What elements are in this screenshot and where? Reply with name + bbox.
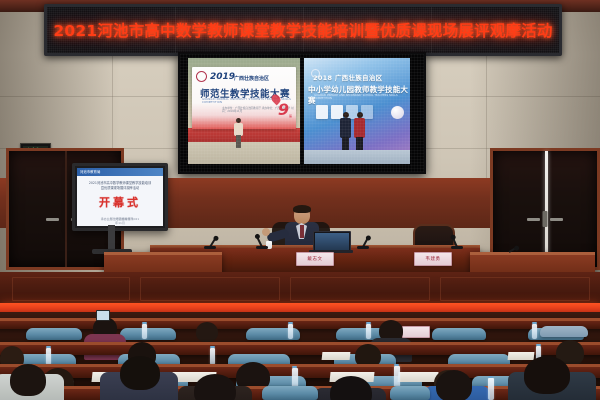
emblem-icon bbox=[196, 71, 207, 82]
slide-right-ground bbox=[304, 150, 410, 164]
water-bottle bbox=[366, 324, 371, 339]
attendee-head bbox=[196, 322, 218, 342]
seat bbox=[120, 328, 176, 340]
table-card bbox=[402, 326, 430, 338]
tv-main-title: 开幕式 bbox=[77, 194, 163, 210]
nameplate-right-text: 韦建勇 bbox=[415, 253, 451, 265]
slide-left-ground bbox=[188, 142, 300, 164]
slide-left-number: 9 bbox=[278, 100, 289, 119]
conference-hall-photo: 2021河池市高中数学教师课堂教学技能培训暨优质课现场展评观摩活动 2019 广… bbox=[0, 0, 600, 400]
seat bbox=[26, 328, 82, 340]
door-lock-icon[interactable] bbox=[543, 211, 548, 227]
water-bottle bbox=[532, 324, 537, 339]
led-banner-text: 2021河池市高中数学教师课堂教学技能培训暨优质课现场展评观摩活动 bbox=[47, 19, 559, 41]
tv-header-text: 河池市教育局 bbox=[80, 169, 100, 174]
seat bbox=[390, 386, 430, 400]
projection-screen: 2019 广西壮族自治区 师范生教学技能大赛 GUANGXI NORMAL UN… bbox=[178, 52, 426, 174]
nameplate-left-text: 戴志文 bbox=[297, 253, 333, 265]
microphone-base bbox=[451, 246, 463, 249]
water-bottle bbox=[46, 348, 51, 365]
tv-monitor: 河池市教育局 2021河池市高中数学教师课堂教学技能培训 暨优质课现场展评观摩活… bbox=[72, 163, 168, 231]
document-paper bbox=[397, 372, 438, 382]
attendee-head bbox=[194, 374, 236, 400]
door-handle-icon[interactable] bbox=[46, 218, 59, 221]
attendee-head bbox=[120, 356, 160, 390]
water-bottle bbox=[292, 368, 298, 388]
slide-left-person bbox=[234, 118, 243, 148]
water-bottle bbox=[210, 348, 215, 365]
tv-slide: 河池市教育局 2021河池市高中数学教师课堂教学技能培训 暨优质课现场展评观摩活… bbox=[77, 168, 163, 226]
slide-left-region: 广西壮族自治区 bbox=[234, 75, 269, 82]
smartphone bbox=[96, 310, 110, 321]
tv-footer-2: 承办：河池市高级中学 2021年11月 bbox=[99, 217, 140, 225]
slide-right: 2018 广西壮族自治区 中小学幼儿园教师教学技能大赛 GUANGXI PRIM… bbox=[304, 58, 410, 164]
led-banner: 2021河池市高中数学教师课堂教学技能培训暨优质课现场展评观摩活动 bbox=[44, 4, 562, 56]
slide-right-subtitle: GUANGXI PRIMARY AND SECONDARY SCHOOL TEA… bbox=[314, 94, 410, 100]
door-handle-icon[interactable] bbox=[550, 218, 563, 221]
seat bbox=[262, 386, 318, 400]
speaker-hand bbox=[262, 228, 270, 236]
slide-right-card bbox=[316, 105, 328, 119]
door-handle-icon[interactable] bbox=[527, 218, 540, 221]
attendee-head bbox=[10, 364, 46, 396]
microphone-base bbox=[256, 246, 268, 249]
audience-area bbox=[0, 312, 600, 400]
nameplate-left: 戴志文 bbox=[296, 252, 334, 266]
water-bottle bbox=[488, 378, 494, 400]
slide-left-number-sub: 届 bbox=[289, 114, 292, 118]
seat bbox=[432, 328, 486, 340]
slide-left-backdrop-board: 2019 广西壮族自治区 师范生教学技能大赛 GUANGXI NORMAL UN… bbox=[192, 67, 296, 129]
water-bottle bbox=[288, 324, 293, 339]
slide-left-year: 2019 bbox=[210, 72, 235, 82]
document-paper bbox=[508, 352, 535, 360]
nameplate-right: 韦建勇 bbox=[414, 252, 452, 266]
tv-slide-header: 河池市教育局 bbox=[77, 168, 163, 176]
trophy-icon bbox=[391, 106, 404, 119]
slide-left: 2019 广西壮族自治区 师范生教学技能大赛 GUANGXI NORMAL UN… bbox=[188, 58, 300, 164]
desk-row bbox=[0, 318, 600, 329]
microphone-base bbox=[204, 246, 216, 249]
attendee-head bbox=[436, 370, 472, 400]
seat bbox=[540, 326, 588, 337]
tv-stand-pole bbox=[108, 225, 115, 251]
slide-right-person-right bbox=[354, 112, 365, 150]
slide-right-person-left bbox=[340, 112, 351, 150]
water-bottle bbox=[142, 324, 147, 339]
slide-right-year-region: 2018 广西壮族自治区 bbox=[313, 72, 382, 82]
document-paper bbox=[322, 352, 351, 360]
tv-subtitle-1: 2021河池市高中数学教师课堂教学技能培训 bbox=[84, 181, 156, 185]
tv-subtitle-2: 暨优质课现场展评观摩活动 bbox=[84, 186, 156, 190]
attendee-head bbox=[524, 356, 570, 394]
water-bottle bbox=[394, 366, 400, 388]
microphone-base bbox=[357, 246, 369, 249]
